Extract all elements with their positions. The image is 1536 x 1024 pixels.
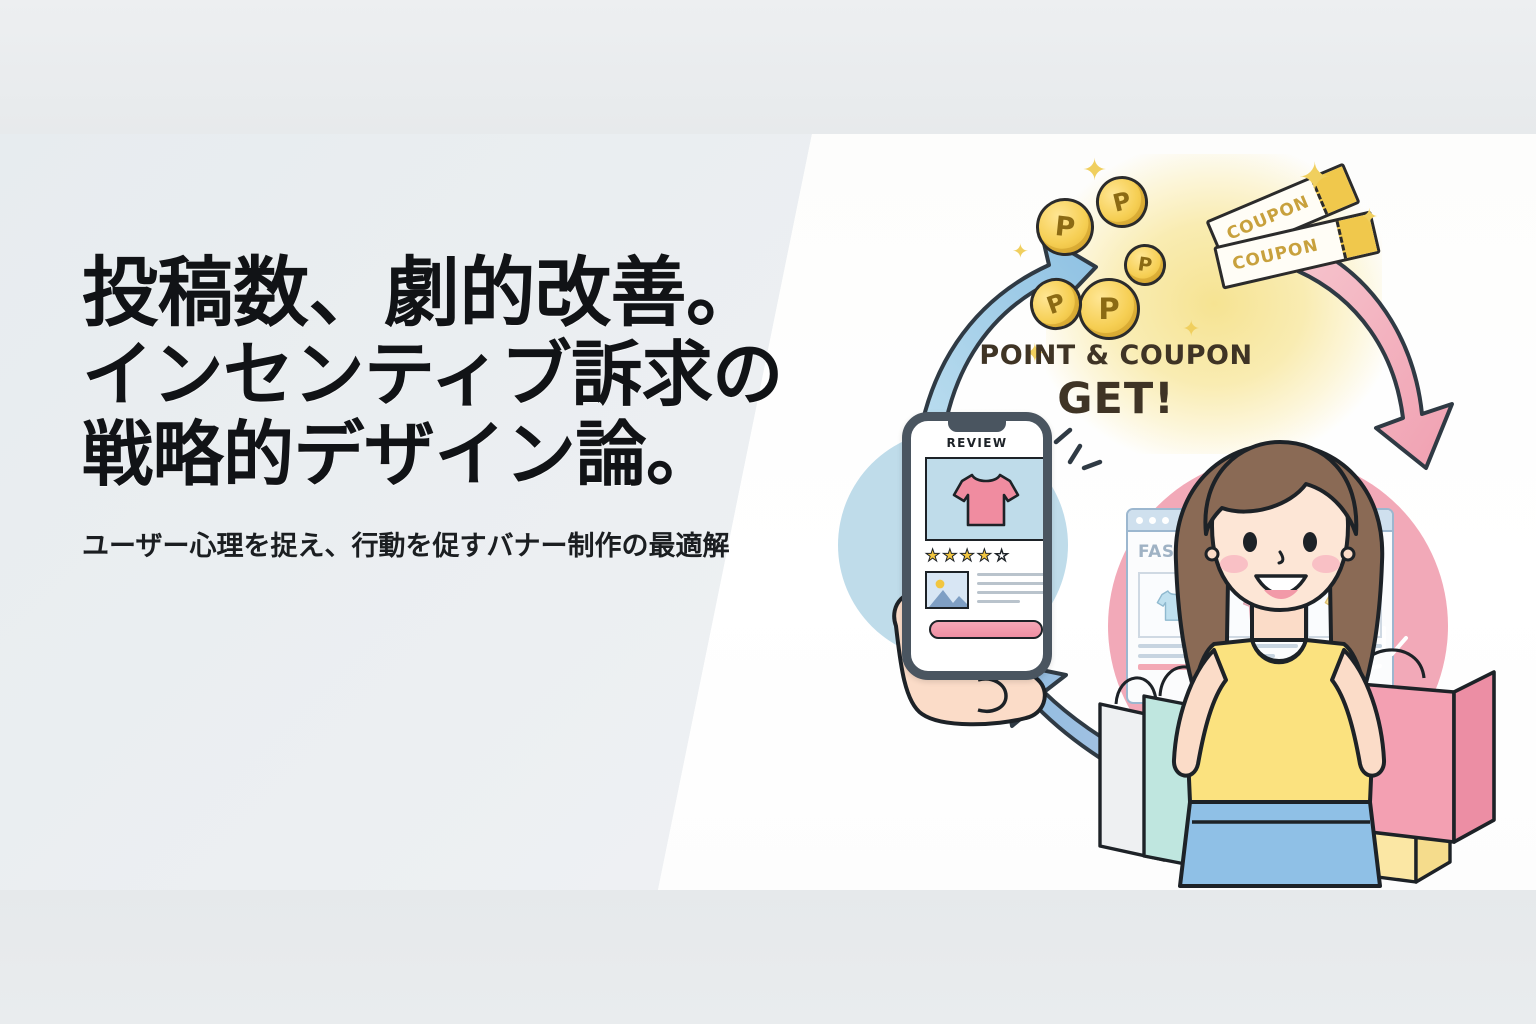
sparkle-icon-2: ✦ — [1298, 158, 1332, 198]
coin-symbol: P — [1136, 253, 1153, 277]
banner: 投稿数、劇的改善。 インセンティブ訴求の 戦略的デザイン論。 ユーザー心理を捉え… — [0, 134, 1536, 890]
sparkle-icon-6: ✦ — [1182, 318, 1200, 340]
phone-screen-title: REVIEW — [911, 436, 1043, 450]
headline-line-1: 投稿数、劇的改善。 — [82, 250, 882, 335]
illustration: P P P P P COUPON COUPON — [820, 134, 1536, 890]
coin-symbol: P — [1054, 211, 1077, 244]
text-line — [977, 573, 1047, 576]
review-submit-button[interactable] — [929, 620, 1043, 639]
star-empty-5: ☆ — [994, 547, 1009, 564]
coin-symbol: P — [1110, 186, 1134, 217]
smartphone-mockup[interactable]: REVIEW ★ ★ ★ ★ ☆ — [902, 412, 1052, 680]
sparkle-icon-3: ✦ — [1360, 206, 1378, 228]
reward-title: POINT & COUPON — [758, 340, 1474, 371]
letterbox-bottom — [0, 890, 1536, 1024]
text-line — [977, 591, 1047, 594]
subcopy: ユーザー心理を捉え、行動を促すバナー制作の最適解 — [82, 524, 882, 563]
sparkle-icon-4: ✦ — [1012, 242, 1029, 262]
text-line — [977, 582, 1047, 585]
product-photo — [925, 457, 1047, 541]
eye-left — [1243, 532, 1257, 552]
blush-right — [1312, 555, 1340, 573]
coin-symbol: P — [1043, 288, 1069, 320]
sparkle-icon-1: ✦ — [1082, 156, 1107, 186]
text-line — [977, 600, 1020, 603]
review-text-lines — [977, 573, 1047, 609]
review-thumbnail-icon — [925, 571, 969, 609]
headline-line-3: 戦略的デザイン論。 — [82, 415, 882, 495]
star-filled-2: ★ — [942, 547, 957, 564]
phone-notch — [948, 421, 1006, 432]
headline: 投稿数、劇的改善。 インセンティブ訴求の 戦略的デザイン論。 — [82, 250, 882, 494]
letterbox-top — [0, 0, 1536, 134]
phone-in-hand: REVIEW ★ ★ ★ ★ ☆ — [878, 412, 1088, 742]
screenshot-root: 投稿数、劇的改善。 インセンティブ訴求の 戦略的デザイン論。 ユーザー心理を捉え… — [0, 0, 1536, 1024]
star-filled-3: ★ — [960, 547, 975, 564]
point-coin-3: P — [1078, 278, 1140, 340]
blush-left — [1220, 555, 1248, 573]
skirt-blue — [1180, 802, 1380, 886]
coin-symbol: P — [1098, 292, 1119, 326]
star-filled-1: ★ — [925, 547, 940, 564]
pink-top-icon — [950, 469, 1022, 529]
rating-stars: ★ ★ ★ ★ ☆ — [925, 547, 1047, 564]
eye-right — [1303, 532, 1317, 552]
shopper-illustration — [1094, 430, 1494, 890]
reward-get-label: GET! — [758, 374, 1474, 424]
star-filled-4: ★ — [977, 547, 992, 564]
